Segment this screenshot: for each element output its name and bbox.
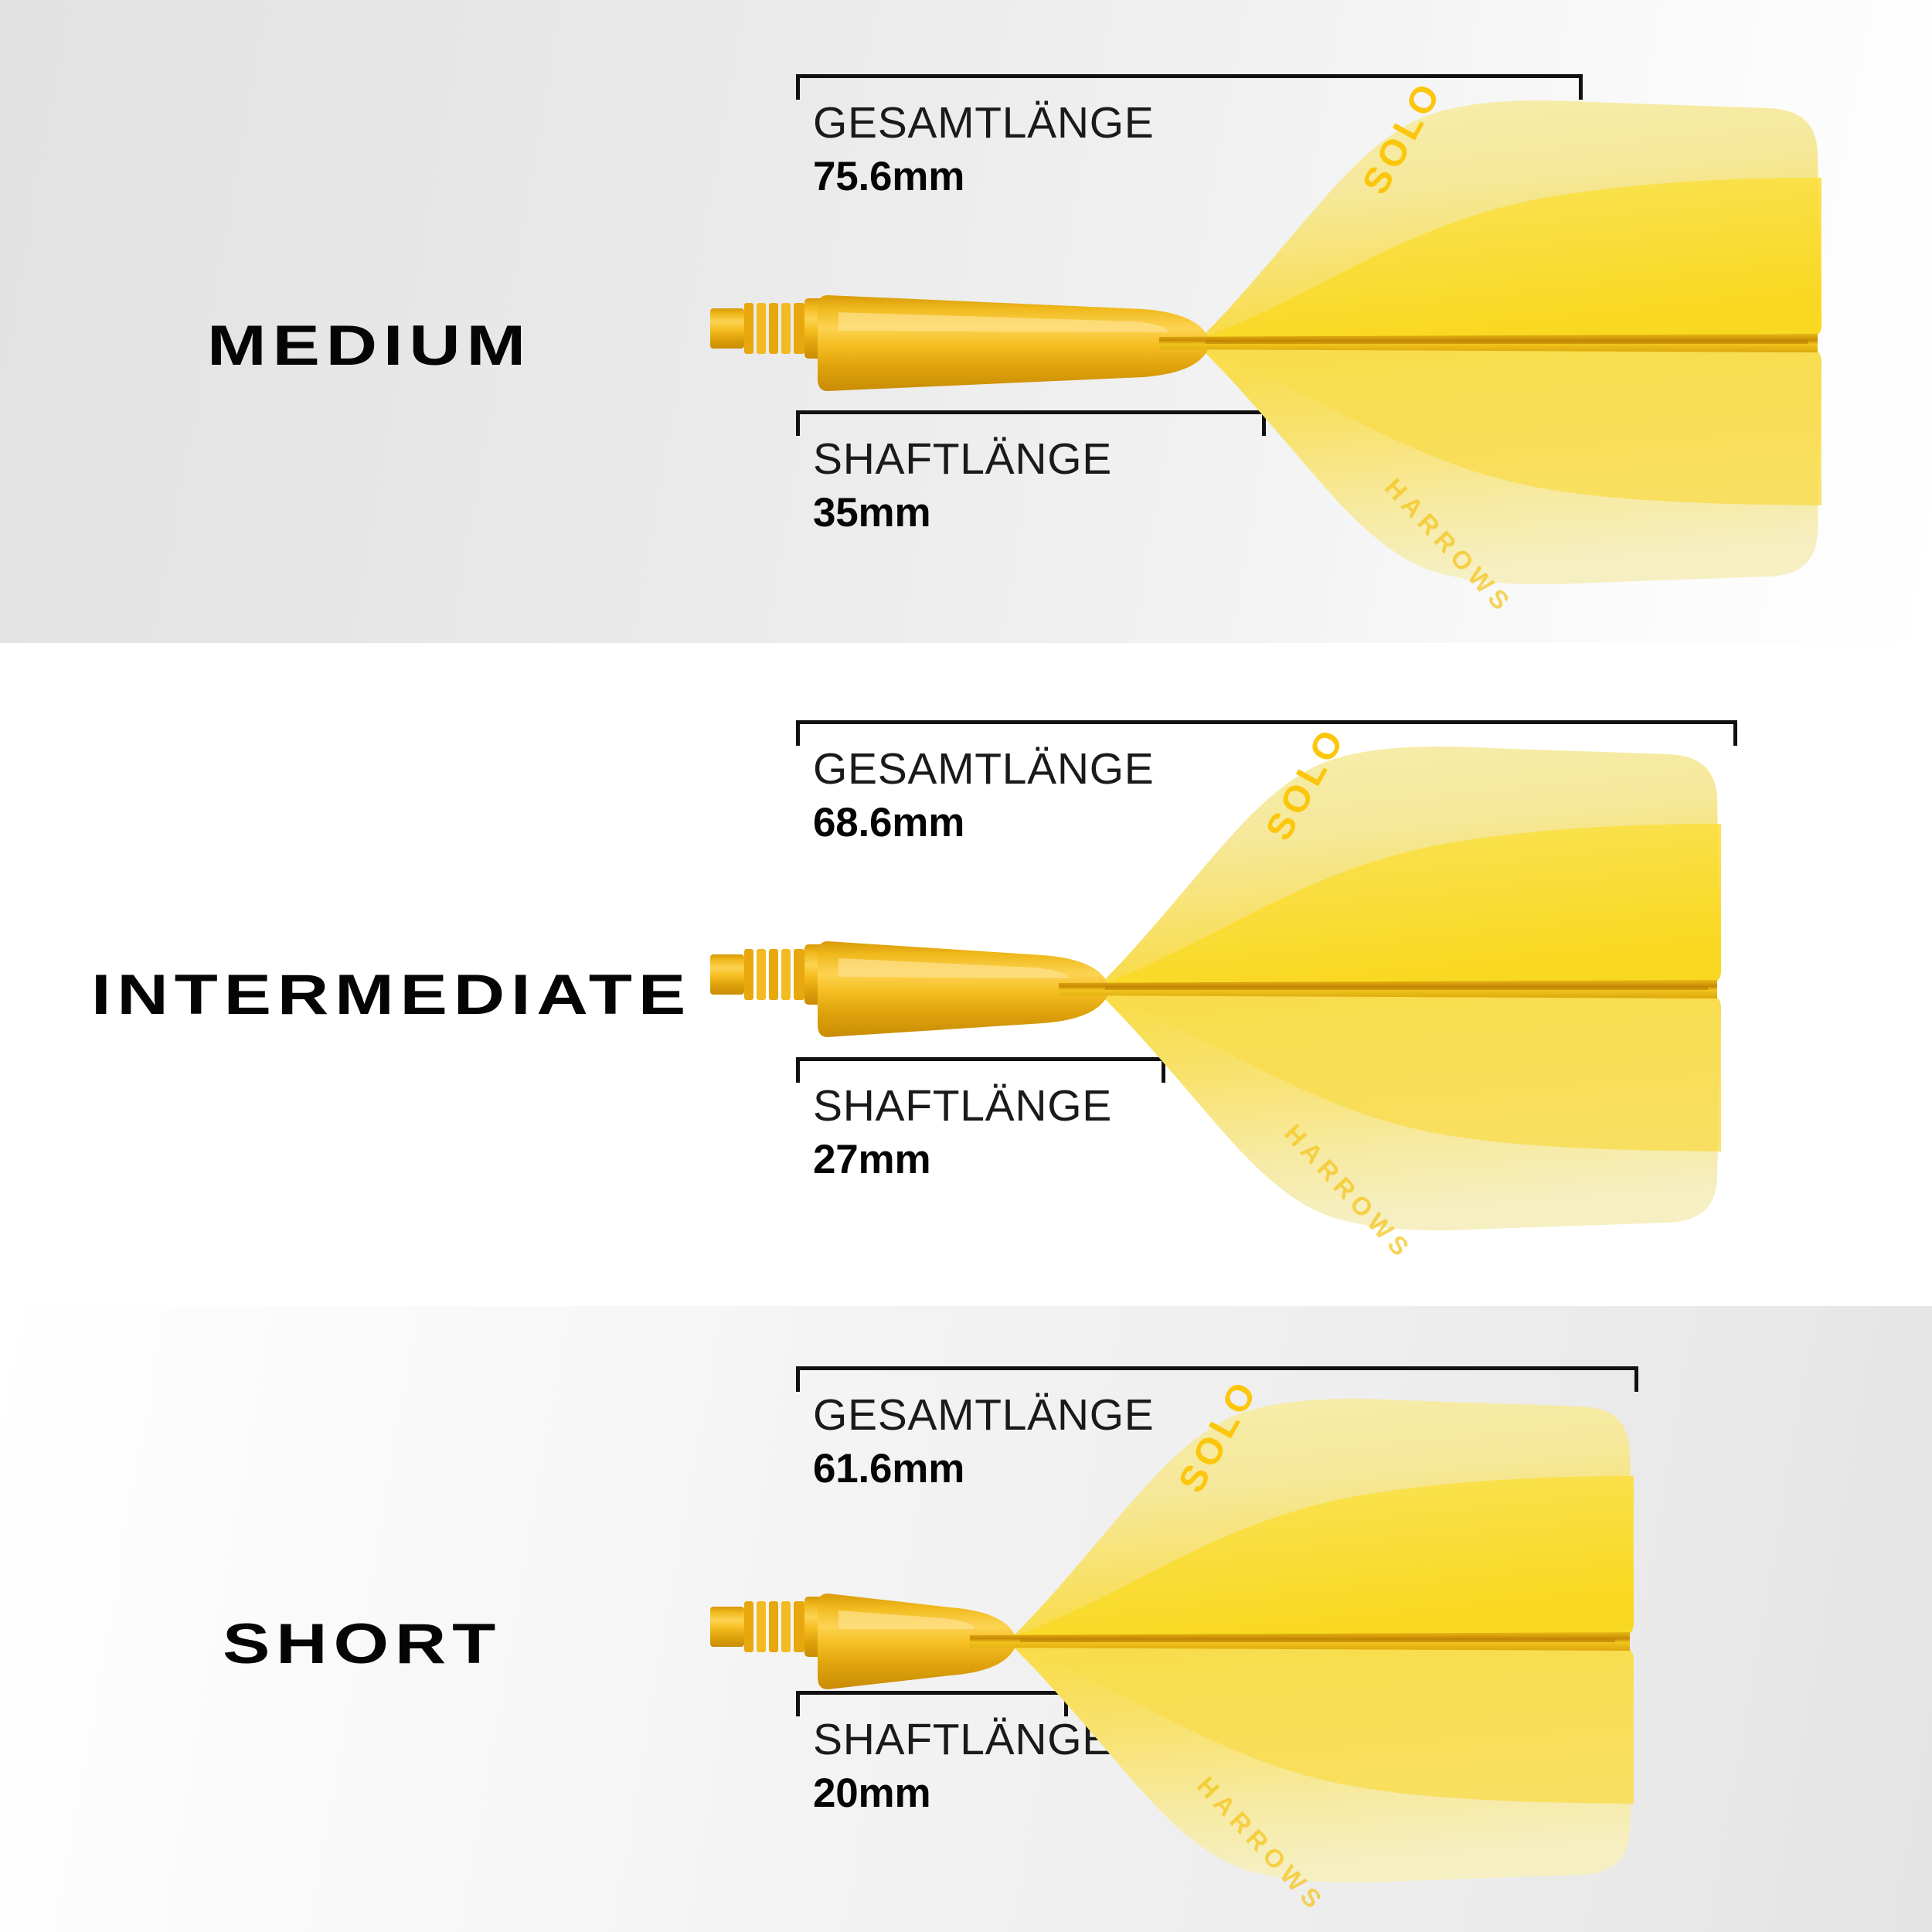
stem-thread-rib xyxy=(769,1601,778,1652)
stem-thread-rib xyxy=(781,303,791,354)
stem-thread-rib xyxy=(794,949,804,1000)
stem-thread-tip xyxy=(710,954,744,995)
stem-thread-tip xyxy=(710,308,744,349)
stem-thread-rib xyxy=(757,949,766,1000)
stem-thread-rib xyxy=(744,1601,753,1652)
dart-size-comparison-infographic: MEDIUM GESAMTLÄNGE 75.6mm SHAFTLÄNGE 35m… xyxy=(0,0,1932,1932)
stem-thread-rib xyxy=(769,949,778,1000)
stem-thread-rib xyxy=(744,949,753,1000)
stem-thread-rib xyxy=(794,1601,804,1652)
stem-thread-rib xyxy=(769,303,778,354)
stem-thread-rib xyxy=(794,303,804,354)
stem-thread-rib xyxy=(781,949,791,1000)
flight-spine-line xyxy=(1206,340,1808,344)
panel-short: SHORT GESAMTLÄNGE 61.6mm SHAFTLÄNGE 20mm xyxy=(0,1306,1932,1932)
panel-intermediate: INTERMEDIATE GESAMTLÄNGE 68.6mm SHAFTLÄN… xyxy=(0,643,1932,1306)
flight-spine-line xyxy=(1020,1638,1615,1642)
stem-thread-rib xyxy=(757,303,766,354)
stem-barrel xyxy=(818,295,1210,391)
flight-spine-line xyxy=(1105,986,1708,990)
stem-thread-tip xyxy=(710,1607,744,1647)
stem-thread-rib xyxy=(744,303,753,354)
panel-medium: MEDIUM GESAMTLÄNGE 75.6mm SHAFTLÄNGE 35m… xyxy=(0,0,1932,643)
stem-thread-rib xyxy=(757,1601,766,1652)
stem-thread-rib xyxy=(781,1601,791,1652)
